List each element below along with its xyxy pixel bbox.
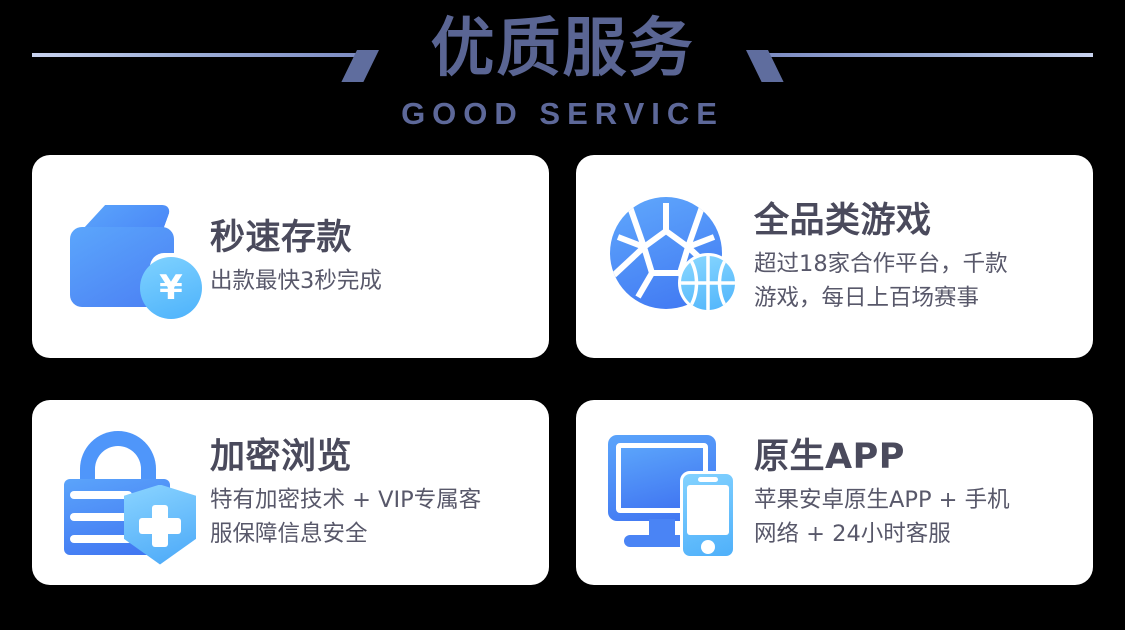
- feature-card-native-app[interactable]: 原生APP 苹果安卓原生APP + 手机 网络 + 24小时客服: [576, 400, 1093, 585]
- feature-card-text: 秒速存款 出款最快3秒完成: [210, 216, 396, 298]
- phone-home-button-shape: [701, 540, 715, 554]
- banner-header: 优质服务 GOOD SERVICE: [0, 0, 1125, 148]
- basketball-shape: [678, 253, 738, 313]
- feature-card-grid: ¥ 秒速存款 出款最快3秒完成: [32, 155, 1093, 585]
- feature-card-encryption[interactable]: 加密浏览 特有加密技术 + VIP专属客 服保障信息安全: [32, 400, 549, 585]
- feature-title: 原生APP: [754, 435, 1010, 479]
- feature-card-text: 原生APP 苹果安卓原生APP + 手机 网络 + 24小时客服: [754, 435, 1024, 551]
- feature-description: 特有加密技术 + VIP专属客 服保障信息安全: [210, 483, 481, 551]
- feature-title: 加密浏览: [210, 435, 481, 479]
- lock-slot-shape: [70, 535, 132, 543]
- feature-title: 秒速存款: [210, 216, 382, 260]
- page-subtitle: GOOD SERVICE: [0, 96, 1125, 132]
- feature-card-text: 加密浏览 特有加密技术 + VIP专属客 服保障信息安全: [210, 435, 495, 551]
- wallet-yen-icon: ¥: [58, 187, 204, 327]
- feature-description: 出款最快3秒完成: [210, 264, 382, 298]
- phone-screen-shape: [687, 485, 729, 535]
- yen-coin-icon: ¥: [140, 257, 202, 319]
- feature-description: 苹果安卓原生APP + 手机 网络 + 24小时客服: [754, 483, 1010, 551]
- lock-shield-icon: [58, 423, 204, 563]
- phone-speaker-shape: [698, 477, 718, 482]
- feature-card-games[interactable]: 全品类游戏 超过18家合作平台，千款 游戏，每日上百场赛事: [576, 155, 1093, 358]
- feature-title: 全品类游戏: [754, 199, 1008, 243]
- feature-description: 超过18家合作平台，千款 游戏，每日上百场赛事: [754, 247, 1008, 315]
- feature-card-text: 全品类游戏 超过18家合作平台，千款 游戏，每日上百场赛事: [754, 199, 1022, 315]
- page-title: 优质服务: [0, 12, 1125, 86]
- lock-slot-shape: [70, 513, 132, 521]
- feature-card-deposit[interactable]: ¥ 秒速存款 出款最快3秒完成: [32, 155, 549, 358]
- lock-slot-shape: [70, 491, 132, 499]
- soccer-basketball-icon: [602, 187, 748, 327]
- plus-icon: [139, 518, 181, 534]
- monitor-phone-icon: [602, 423, 748, 563]
- promo-banner: 优质服务 GOOD SERVICE ¥ 秒速存款 出款最快3秒完成: [0, 0, 1125, 630]
